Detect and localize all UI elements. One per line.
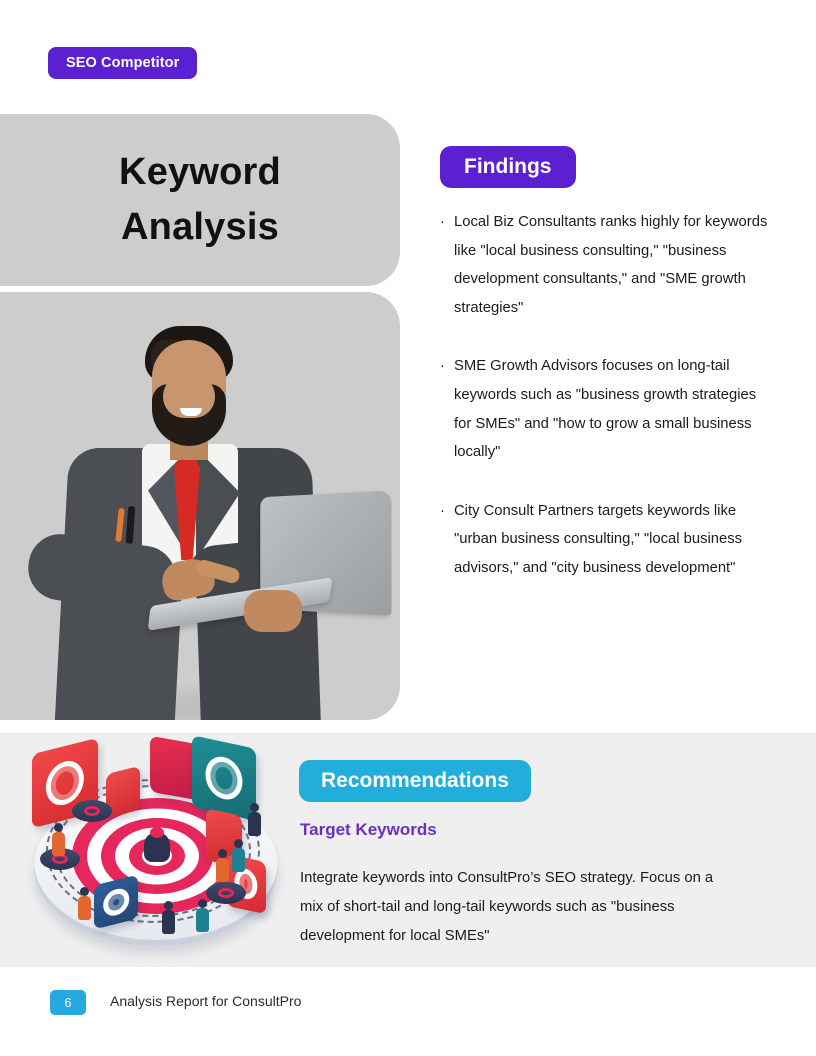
page-title-line2: Analysis [121,206,279,248]
page-number-badge: 6 [50,990,86,1015]
recommendations-subtitle: Target Keywords [300,820,437,840]
page: SEO Competitor Keyword Analysis [0,0,816,1056]
recommendations-body-text: Integrate keywords into ConsultPro’s SEO… [300,864,730,951]
bullet-icon: · [440,208,454,322]
page-title-line1: Keyword [119,151,281,193]
list-item-text: Local Biz Consultants ranks highly for k… [454,208,770,322]
page-title: Keyword Analysis [119,145,281,255]
findings-list: · Local Biz Consultants ranks highly for… [440,208,770,583]
list-item-text: SME Growth Advisors focuses on long-tail… [454,352,770,466]
recommendations-badge: Recommendations [299,760,531,802]
section-tag-badge: SEO Competitor [48,47,197,79]
footer-label: Analysis Report for ConsultPro [110,993,301,1009]
isometric-target-illustration [10,740,296,962]
hero-photo-card [0,292,400,720]
findings-badge: Findings [440,146,576,188]
businessman-with-laptop-photo [0,292,400,720]
bullet-icon: · [440,352,454,466]
bullet-icon: · [440,497,454,583]
list-item: · City Consult Partners targets keywords… [440,497,770,583]
list-item-text: City Consult Partners targets keywords l… [454,497,770,583]
page-title-card: Keyword Analysis [0,114,400,286]
list-item: · Local Biz Consultants ranks highly for… [440,208,770,322]
list-item: · SME Growth Advisors focuses on long-ta… [440,352,770,466]
